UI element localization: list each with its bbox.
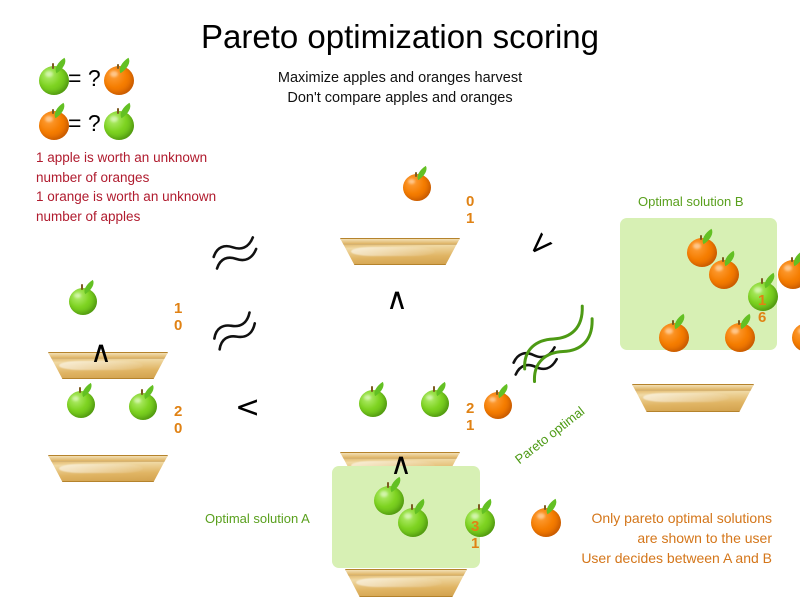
apple-icon (358, 384, 390, 418)
orange-stem (415, 172, 417, 177)
score-apples: 0 (466, 193, 474, 210)
subtitle-block: Maximize apples and oranges harvest Don'… (200, 68, 600, 108)
bowl-shape (345, 569, 467, 597)
bowl-sheen (643, 393, 729, 402)
apple-icon (103, 105, 137, 141)
apple-stem (371, 386, 373, 392)
legend-note-line-4: number of apples (36, 207, 296, 227)
apple-body (69, 288, 97, 315)
bowl-rim (341, 239, 459, 245)
less-than-diagonal-operator: < (521, 226, 560, 265)
score-oranges: 6 (758, 309, 766, 326)
bowl-shape (340, 238, 460, 265)
equation-operator: = ? (68, 112, 101, 135)
orange-icon (38, 105, 72, 141)
orange-stem (672, 320, 674, 325)
orange-highlight (489, 397, 496, 402)
optimal-solution-b-label: Optimal solution B (638, 194, 744, 209)
apple-highlight (380, 491, 388, 497)
approx-glyph (209, 234, 263, 276)
orange-icon (658, 317, 692, 353)
apple-stem (81, 284, 83, 290)
equation-orange-equals-apple: = ? (38, 105, 137, 141)
orange-icon (483, 386, 515, 420)
score-oranges: 1 (466, 210, 474, 227)
orange-highlight (665, 328, 673, 334)
equation-apple-equals-orange: = ? (38, 60, 137, 96)
orange-stem (700, 235, 702, 240)
caret-operator-3: ∧ (390, 450, 412, 480)
optimal-solution-a-label: Optimal solution A (205, 511, 310, 526)
orange-stem (52, 109, 54, 114)
apple-highlight (364, 395, 371, 400)
score-label: 2 0 (174, 403, 182, 437)
approx-operator-1 (209, 234, 261, 276)
bowl-two-apples-one-orange: 2 1 (340, 382, 490, 442)
bowl-one-apple: 1 0 (48, 282, 198, 342)
score-label: 2 1 (466, 400, 474, 434)
bowl-shape (48, 455, 168, 482)
legend-note-line-2: number of oranges (36, 168, 296, 188)
apple-stem (117, 108, 119, 114)
score-oranges: 1 (466, 417, 474, 434)
apple-highlight (110, 116, 118, 122)
caret-operator-2: ∧ (90, 338, 112, 368)
approx-glyph (208, 309, 264, 357)
apple-body (104, 111, 134, 140)
score-oranges: 0 (174, 317, 182, 334)
bowl-rim (49, 456, 167, 462)
score-label: 0 1 (466, 193, 474, 227)
orange-highlight (784, 265, 792, 271)
orange-icon (402, 168, 434, 202)
pareto-squiggle-glyph (510, 300, 612, 395)
apple-highlight (45, 71, 53, 77)
apple-icon (397, 502, 431, 538)
pareto-optimal-squiggle (510, 300, 624, 411)
score-label: 1 6 (758, 292, 766, 326)
score-apples: 1 (758, 292, 766, 309)
page-title: Pareto optimization scoring (0, 18, 800, 56)
orange-highlight (693, 243, 701, 249)
bowl-rim (633, 385, 753, 391)
score-apples: 2 (466, 400, 474, 417)
orange-highlight (45, 116, 53, 122)
apple-highlight (72, 396, 79, 401)
apple-stem (387, 482, 389, 488)
subtitle-line-2: Don't compare apples and oranges (200, 88, 600, 108)
orange-icon (724, 317, 758, 353)
apple-icon (38, 60, 72, 96)
apple-highlight (74, 293, 81, 298)
apple-body (398, 508, 428, 537)
apple-body (67, 391, 95, 418)
apple-icon (68, 282, 100, 316)
less-than-operator: < (235, 393, 260, 423)
score-label: 1 0 (174, 300, 182, 334)
bowl-sheen (59, 464, 143, 473)
apple-body (359, 390, 387, 417)
bowl-two-apples: 2 0 (48, 385, 198, 445)
orange-stem (117, 64, 119, 69)
bowl-sheen (356, 578, 442, 587)
apple-body (39, 66, 69, 95)
orange-icon (708, 254, 742, 290)
footer-note-line-1: Only pareto optimal solutions (472, 508, 772, 528)
apple-icon (66, 385, 98, 419)
legend-note-line-1: 1 apple is worth an unknown (36, 148, 296, 168)
legend-note-line-3: 1 orange is worth an unknown (36, 187, 296, 207)
orange-stem (791, 257, 793, 262)
bowl-one-orange: 0 1 (340, 168, 490, 228)
caret-operator-1: ∧ (386, 285, 408, 315)
bowl-sheen (351, 247, 435, 256)
footer-note-line-2: are shown to the user (472, 528, 772, 548)
bowl-shape (632, 384, 754, 412)
footer-note: Only pareto optimal solutions are shown … (472, 508, 772, 568)
orange-highlight (408, 179, 415, 184)
orange-highlight (110, 71, 118, 77)
score-apples: 2 (174, 403, 182, 420)
subtitle-line-1: Maximize apples and oranges harvest (200, 68, 600, 88)
apple-stem (52, 63, 54, 69)
pareto-optimal-label: Pareto optimal (512, 403, 587, 466)
orange-icon (103, 60, 137, 96)
apple-icon (128, 387, 160, 421)
apple-stem (79, 387, 81, 393)
approx-operator-2 (208, 309, 262, 356)
score-apples: 1 (174, 300, 182, 317)
bowl-optimal-b: 1 6 (632, 232, 792, 342)
orange-body (792, 323, 800, 352)
apple-icon (420, 384, 452, 418)
orange-stem (496, 390, 498, 395)
equation-operator: = ? (68, 67, 101, 90)
orange-icon (791, 317, 800, 353)
bowl-rim (346, 570, 466, 576)
footer-note-line-3: User decides between A and B (472, 548, 772, 568)
score-oranges: 0 (174, 420, 182, 437)
legend-note: 1 apple is worth an unknown number of or… (36, 148, 296, 226)
